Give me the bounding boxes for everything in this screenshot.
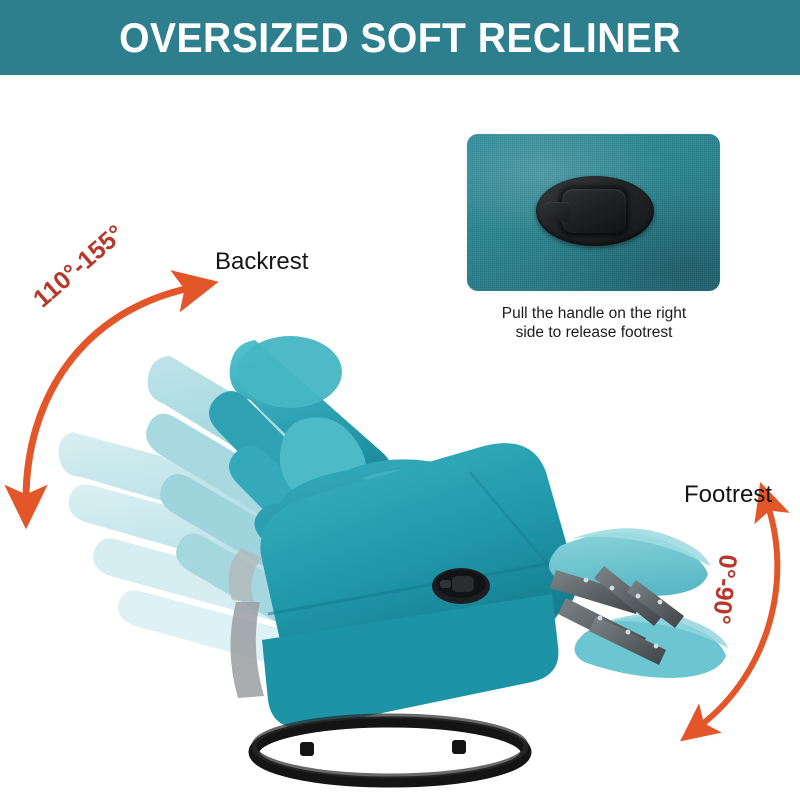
inset-caption: Pull the handle on the right side to rel… [455,304,733,342]
swivel-base [254,716,526,782]
handle-lever-icon [562,189,626,233]
inset-caption-line-1: Pull the handle on the right [455,304,733,323]
backrest-label: Backrest [215,248,308,276]
release-handle[interactable] [432,568,490,604]
handle-closeup-photo [467,134,720,291]
footrest-label: Footrest [684,481,772,509]
handle-tab-icon [544,202,570,222]
product-infographic: OVERSIZED SOFT RECLINER [0,0,800,800]
recliner-chair-illustration [0,0,800,800]
handle-bezel-icon [536,176,654,246]
inset-caption-line-2: side to release footrest [455,323,733,342]
